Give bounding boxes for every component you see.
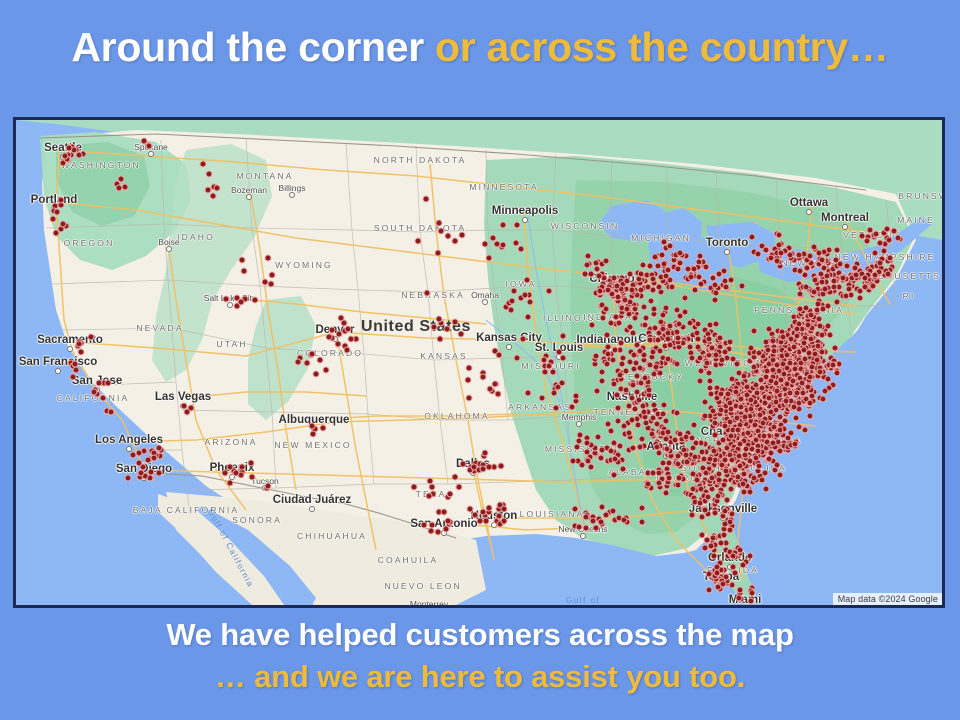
customer-marker[interactable]: [660, 402, 667, 409]
customer-marker[interactable]: [590, 518, 597, 525]
customer-marker[interactable]: [623, 278, 630, 285]
customer-marker[interactable]: [708, 345, 715, 352]
customer-marker[interactable]: [344, 325, 351, 332]
customer-marker[interactable]: [436, 219, 443, 226]
customer-marker[interactable]: [728, 432, 735, 439]
customer-marker[interactable]: [659, 410, 666, 417]
customer-marker[interactable]: [755, 463, 762, 470]
customer-marker[interactable]: [825, 375, 832, 382]
customer-marker[interactable]: [605, 286, 612, 293]
customer-marker[interactable]: [589, 321, 596, 328]
customer-marker[interactable]: [604, 420, 611, 427]
customer-marker[interactable]: [766, 455, 773, 462]
customer-marker[interactable]: [238, 257, 245, 264]
customer-marker[interactable]: [627, 271, 634, 278]
customer-marker[interactable]: [721, 532, 728, 539]
customer-marker[interactable]: [569, 403, 576, 410]
customer-marker[interactable]: [675, 335, 682, 342]
customer-marker[interactable]: [513, 222, 520, 229]
customer-marker[interactable]: [623, 367, 630, 374]
customer-marker[interactable]: [459, 231, 466, 238]
customer-marker[interactable]: [747, 344, 754, 351]
customer-marker[interactable]: [637, 379, 644, 386]
customer-marker[interactable]: [598, 455, 605, 462]
customer-marker[interactable]: [808, 363, 815, 370]
customer-marker[interactable]: [582, 271, 589, 278]
customer-marker[interactable]: [520, 336, 527, 343]
customer-marker[interactable]: [817, 368, 824, 375]
customer-marker[interactable]: [795, 251, 802, 258]
customer-marker[interactable]: [761, 433, 768, 440]
customer-marker[interactable]: [818, 257, 825, 264]
customer-marker[interactable]: [323, 366, 330, 373]
customer-marker[interactable]: [640, 409, 647, 416]
customer-marker[interactable]: [743, 384, 750, 391]
customer-marker[interactable]: [737, 404, 744, 411]
customer-marker[interactable]: [539, 395, 546, 402]
customer-marker[interactable]: [793, 390, 800, 397]
customer-marker[interactable]: [310, 430, 317, 437]
customer-marker[interactable]: [444, 232, 451, 239]
customer-marker[interactable]: [651, 325, 658, 332]
customer-marker[interactable]: [62, 153, 69, 160]
customer-marker[interactable]: [728, 510, 735, 517]
customer-marker[interactable]: [713, 351, 720, 358]
customer-marker[interactable]: [610, 508, 617, 515]
customer-marker[interactable]: [704, 359, 711, 366]
customer-marker[interactable]: [660, 260, 667, 267]
customer-marker[interactable]: [876, 260, 883, 267]
customer-marker[interactable]: [746, 489, 753, 496]
customer-marker[interactable]: [740, 481, 747, 488]
customer-marker[interactable]: [570, 457, 577, 464]
customer-marker[interactable]: [754, 251, 761, 258]
customer-marker[interactable]: [811, 350, 818, 357]
customer-marker[interactable]: [894, 234, 901, 241]
customer-marker[interactable]: [151, 454, 158, 461]
customer-marker[interactable]: [764, 368, 771, 375]
customer-marker[interactable]: [752, 422, 759, 429]
customer-marker[interactable]: [481, 240, 488, 247]
customer-marker[interactable]: [682, 309, 689, 316]
customer-marker[interactable]: [711, 510, 718, 517]
customer-marker[interactable]: [768, 378, 775, 385]
customer-marker[interactable]: [525, 390, 532, 397]
customer-marker[interactable]: [783, 381, 790, 388]
customer-marker[interactable]: [582, 513, 589, 520]
customer-marker[interactable]: [871, 249, 878, 256]
customer-marker[interactable]: [792, 441, 799, 448]
customer-marker[interactable]: [319, 424, 326, 431]
customer-marker[interactable]: [810, 289, 817, 296]
customer-marker[interactable]: [727, 485, 734, 492]
customer-marker[interactable]: [651, 402, 658, 409]
customer-marker[interactable]: [761, 400, 768, 407]
customer-marker[interactable]: [559, 379, 566, 386]
customer-marker[interactable]: [226, 479, 233, 486]
customer-marker[interactable]: [640, 303, 647, 310]
customer-marker[interactable]: [639, 505, 646, 512]
customer-marker[interactable]: [71, 361, 78, 368]
customer-marker[interactable]: [729, 355, 736, 362]
customer-marker[interactable]: [790, 404, 797, 411]
customer-marker[interactable]: [452, 238, 459, 245]
customer-marker[interactable]: [264, 254, 271, 261]
customer-marker[interactable]: [657, 347, 664, 354]
customer-marker[interactable]: [763, 246, 770, 253]
customer-marker[interactable]: [672, 437, 679, 444]
customer-marker[interactable]: [686, 344, 693, 351]
customer-marker[interactable]: [621, 516, 628, 523]
customer-marker[interactable]: [669, 284, 676, 291]
customer-marker[interactable]: [731, 466, 738, 473]
customer-marker[interactable]: [707, 542, 714, 549]
customer-marker[interactable]: [752, 382, 759, 389]
customer-marker[interactable]: [337, 315, 344, 322]
customer-marker[interactable]: [740, 561, 747, 568]
customer-marker[interactable]: [629, 329, 636, 336]
customer-marker[interactable]: [584, 439, 591, 446]
customer-marker[interactable]: [701, 412, 708, 419]
customer-marker[interactable]: [60, 220, 67, 227]
customer-marker[interactable]: [485, 504, 492, 511]
customer-marker[interactable]: [666, 459, 673, 466]
customer-marker[interactable]: [615, 418, 622, 425]
customer-marker[interactable]: [309, 351, 316, 358]
customer-marker[interactable]: [740, 372, 747, 379]
customer-marker[interactable]: [410, 484, 417, 491]
customer-marker[interactable]: [791, 343, 798, 350]
customer-marker[interactable]: [842, 293, 849, 300]
customer-marker[interactable]: [445, 518, 452, 525]
customer-marker[interactable]: [721, 457, 728, 464]
customer-marker[interactable]: [694, 321, 701, 328]
customer-marker[interactable]: [681, 295, 688, 302]
customer-marker[interactable]: [728, 457, 735, 464]
customer-marker[interactable]: [820, 264, 827, 271]
customer-marker[interactable]: [801, 355, 808, 362]
customer-marker[interactable]: [722, 283, 729, 290]
customer-marker[interactable]: [605, 350, 612, 357]
customer-marker[interactable]: [146, 142, 153, 149]
customer-marker[interactable]: [728, 276, 735, 283]
customer-marker[interactable]: [711, 420, 718, 427]
customer-marker[interactable]: [787, 360, 794, 367]
customer-marker[interactable]: [199, 161, 206, 168]
customer-marker[interactable]: [437, 227, 444, 234]
customer-marker[interactable]: [856, 295, 863, 302]
customer-marker[interactable]: [774, 257, 781, 264]
customer-marker[interactable]: [209, 192, 216, 199]
customer-marker[interactable]: [777, 471, 784, 478]
customer-marker[interactable]: [326, 334, 333, 341]
customer-marker[interactable]: [510, 288, 517, 295]
customer-marker[interactable]: [797, 290, 804, 297]
customer-marker[interactable]: [664, 445, 671, 452]
customer-marker[interactable]: [489, 234, 496, 241]
customer-marker[interactable]: [222, 470, 229, 477]
customer-marker[interactable]: [824, 302, 831, 309]
customer-marker[interactable]: [501, 517, 508, 524]
customer-marker[interactable]: [698, 280, 705, 287]
customer-marker[interactable]: [751, 363, 758, 370]
customer-marker[interactable]: [689, 485, 696, 492]
customer-marker[interactable]: [428, 528, 435, 535]
customer-marker[interactable]: [444, 325, 451, 332]
customer-marker[interactable]: [710, 553, 717, 560]
customer-marker[interactable]: [542, 368, 549, 375]
customer-marker[interactable]: [96, 380, 103, 387]
customer-marker[interactable]: [742, 413, 749, 420]
customer-marker[interactable]: [702, 264, 709, 271]
customer-marker[interactable]: [696, 499, 703, 506]
customer-marker[interactable]: [673, 410, 680, 417]
customer-marker[interactable]: [248, 459, 255, 466]
customer-marker[interactable]: [776, 426, 783, 433]
customer-marker[interactable]: [524, 314, 531, 321]
customer-marker[interactable]: [584, 457, 591, 464]
customer-marker[interactable]: [664, 355, 671, 362]
customer-marker[interactable]: [423, 196, 430, 203]
customer-marker[interactable]: [649, 275, 656, 282]
customer-marker[interactable]: [631, 405, 638, 412]
customer-marker[interactable]: [706, 378, 713, 385]
customer-marker[interactable]: [807, 400, 814, 407]
customer-marker[interactable]: [762, 485, 769, 492]
customer-marker[interactable]: [104, 379, 111, 386]
customer-marker[interactable]: [694, 476, 701, 483]
customer-marker[interactable]: [780, 333, 787, 340]
customer-marker[interactable]: [775, 241, 782, 248]
customer-marker[interactable]: [718, 391, 725, 398]
customer-marker[interactable]: [613, 282, 620, 289]
customer-marker[interactable]: [675, 481, 682, 488]
customer-marker[interactable]: [594, 433, 601, 440]
customer-marker[interactable]: [702, 507, 709, 514]
customer-marker[interactable]: [615, 404, 622, 411]
customer-marker[interactable]: [745, 429, 752, 436]
customer-marker[interactable]: [651, 305, 658, 312]
customer-marker[interactable]: [696, 354, 703, 361]
customer-marker[interactable]: [713, 569, 720, 576]
customer-marker[interactable]: [796, 424, 803, 431]
customer-marker[interactable]: [629, 417, 636, 424]
customer-marker[interactable]: [612, 456, 619, 463]
customer-marker[interactable]: [458, 331, 465, 338]
customer-marker[interactable]: [115, 184, 122, 191]
customer-marker[interactable]: [638, 287, 645, 294]
customer-marker[interactable]: [428, 484, 435, 491]
customer-marker[interactable]: [665, 329, 672, 336]
customer-marker[interactable]: [775, 232, 782, 239]
customer-marker[interactable]: [717, 406, 724, 413]
customer-marker[interactable]: [853, 271, 860, 278]
customer-marker[interactable]: [840, 275, 847, 282]
customer-marker[interactable]: [604, 360, 611, 367]
customer-marker[interactable]: [873, 231, 880, 238]
customer-marker[interactable]: [437, 335, 444, 342]
customer-marker[interactable]: [666, 243, 673, 250]
customer-marker[interactable]: [622, 296, 629, 303]
customer-marker[interactable]: [611, 380, 618, 387]
customer-marker[interactable]: [604, 344, 611, 351]
customer-marker[interactable]: [639, 262, 646, 269]
customer-marker[interactable]: [715, 493, 722, 500]
customer-marker[interactable]: [792, 415, 799, 422]
customer-marker[interactable]: [226, 464, 233, 471]
customer-marker[interactable]: [452, 319, 459, 326]
customer-marker[interactable]: [736, 594, 743, 601]
customer-marker[interactable]: [135, 450, 142, 457]
customer-marker[interactable]: [426, 493, 433, 500]
customer-marker[interactable]: [786, 252, 793, 259]
customer-marker[interactable]: [742, 451, 749, 458]
customer-marker[interactable]: [620, 423, 627, 430]
customer-marker[interactable]: [343, 347, 350, 354]
customer-marker[interactable]: [251, 297, 258, 304]
customer-marker[interactable]: [585, 253, 592, 260]
customer-marker[interactable]: [617, 371, 624, 378]
customer-marker[interactable]: [651, 254, 658, 261]
customer-marker[interactable]: [611, 347, 618, 354]
customer-marker[interactable]: [722, 521, 729, 528]
customer-marker[interactable]: [641, 321, 648, 328]
customer-marker[interactable]: [833, 256, 840, 263]
customer-marker[interactable]: [759, 476, 766, 483]
customer-marker[interactable]: [551, 389, 558, 396]
customer-marker[interactable]: [793, 326, 800, 333]
customer-marker[interactable]: [886, 255, 893, 262]
customer-marker[interactable]: [814, 343, 821, 350]
customer-marker[interactable]: [752, 454, 759, 461]
customer-marker[interactable]: [684, 459, 691, 466]
customer-marker[interactable]: [752, 436, 759, 443]
customer-marker[interactable]: [877, 240, 884, 247]
customer-marker[interactable]: [827, 332, 834, 339]
customer-marker[interactable]: [771, 347, 778, 354]
customer-marker[interactable]: [747, 597, 754, 604]
customer-marker[interactable]: [712, 282, 719, 289]
customer-marker[interactable]: [423, 289, 430, 296]
customer-marker[interactable]: [794, 333, 801, 340]
customer-marker[interactable]: [429, 521, 436, 528]
customer-marker[interactable]: [811, 276, 818, 283]
customer-marker[interactable]: [885, 237, 892, 244]
customer-marker[interactable]: [712, 297, 719, 304]
customer-marker[interactable]: [183, 408, 190, 415]
customer-marker[interactable]: [451, 473, 458, 480]
customer-marker[interactable]: [643, 419, 650, 426]
customer-marker[interactable]: [718, 540, 725, 547]
customer-marker[interactable]: [205, 171, 212, 178]
customer-marker[interactable]: [610, 471, 617, 478]
customer-marker[interactable]: [830, 278, 837, 285]
customer-marker[interactable]: [70, 374, 77, 381]
customer-marker[interactable]: [612, 314, 619, 321]
customer-marker[interactable]: [698, 531, 705, 538]
customer-marker[interactable]: [708, 474, 715, 481]
customer-marker[interactable]: [662, 305, 669, 312]
customer-marker[interactable]: [872, 272, 879, 279]
customer-marker[interactable]: [656, 479, 663, 486]
customer-marker[interactable]: [497, 462, 504, 469]
customer-marker[interactable]: [78, 348, 85, 355]
customer-marker[interactable]: [434, 250, 441, 257]
customer-marker[interactable]: [692, 287, 699, 294]
customer-marker[interactable]: [783, 398, 790, 405]
customer-marker[interactable]: [832, 345, 839, 352]
customer-marker[interactable]: [748, 406, 755, 413]
customer-marker[interactable]: [347, 336, 354, 343]
customer-marker[interactable]: [655, 337, 662, 344]
customer-marker[interactable]: [53, 208, 60, 215]
customer-marker[interactable]: [156, 470, 163, 477]
customer-marker[interactable]: [594, 265, 601, 272]
customer-marker[interactable]: [702, 398, 709, 405]
customer-marker[interactable]: [222, 296, 229, 303]
customer-marker[interactable]: [833, 370, 840, 377]
customer-marker[interactable]: [75, 340, 82, 347]
customer-marker[interactable]: [813, 306, 820, 313]
customer-marker[interactable]: [688, 435, 695, 442]
customer-marker[interactable]: [466, 365, 473, 372]
customer-marker[interactable]: [706, 369, 713, 376]
customer-marker[interactable]: [698, 449, 705, 456]
customer-marker[interactable]: [748, 396, 755, 403]
customer-marker[interactable]: [822, 387, 829, 394]
customer-marker[interactable]: [645, 480, 652, 487]
customer-marker[interactable]: [637, 271, 644, 278]
customer-marker[interactable]: [500, 242, 507, 249]
customer-marker[interactable]: [583, 448, 590, 455]
customer-marker[interactable]: [552, 404, 559, 411]
customer-marker[interactable]: [665, 429, 672, 436]
customer-marker[interactable]: [594, 388, 601, 395]
customer-marker[interactable]: [844, 263, 851, 270]
customer-marker[interactable]: [313, 370, 320, 377]
customer-marker[interactable]: [487, 385, 494, 392]
customer-marker[interactable]: [647, 263, 654, 270]
customer-marker[interactable]: [124, 474, 131, 481]
customer-marker[interactable]: [603, 258, 610, 265]
customer-marker[interactable]: [821, 286, 828, 293]
customer-marker[interactable]: [650, 370, 657, 377]
customer-marker[interactable]: [677, 249, 684, 256]
customer-marker[interactable]: [599, 377, 606, 384]
customer-marker[interactable]: [815, 316, 822, 323]
customer-marker[interactable]: [420, 521, 427, 528]
customer-marker[interactable]: [885, 270, 892, 277]
customer-marker[interactable]: [770, 356, 777, 363]
customer-marker[interactable]: [599, 315, 606, 322]
customer-marker[interactable]: [466, 394, 473, 401]
customer-marker[interactable]: [830, 362, 837, 369]
customer-marker[interactable]: [415, 237, 422, 244]
customer-marker[interactable]: [49, 215, 56, 222]
customer-marker[interactable]: [647, 337, 654, 344]
customer-marker[interactable]: [716, 477, 723, 484]
customer-marker[interactable]: [736, 441, 743, 448]
customer-marker[interactable]: [719, 356, 726, 363]
customer-marker[interactable]: [807, 373, 814, 380]
customer-marker[interactable]: [779, 360, 786, 367]
customer-marker[interactable]: [645, 386, 652, 393]
customer-marker[interactable]: [659, 312, 666, 319]
customer-marker[interactable]: [269, 271, 276, 278]
customer-marker[interactable]: [121, 184, 128, 191]
customer-marker[interactable]: [774, 461, 781, 468]
customer-marker[interactable]: [665, 474, 672, 481]
